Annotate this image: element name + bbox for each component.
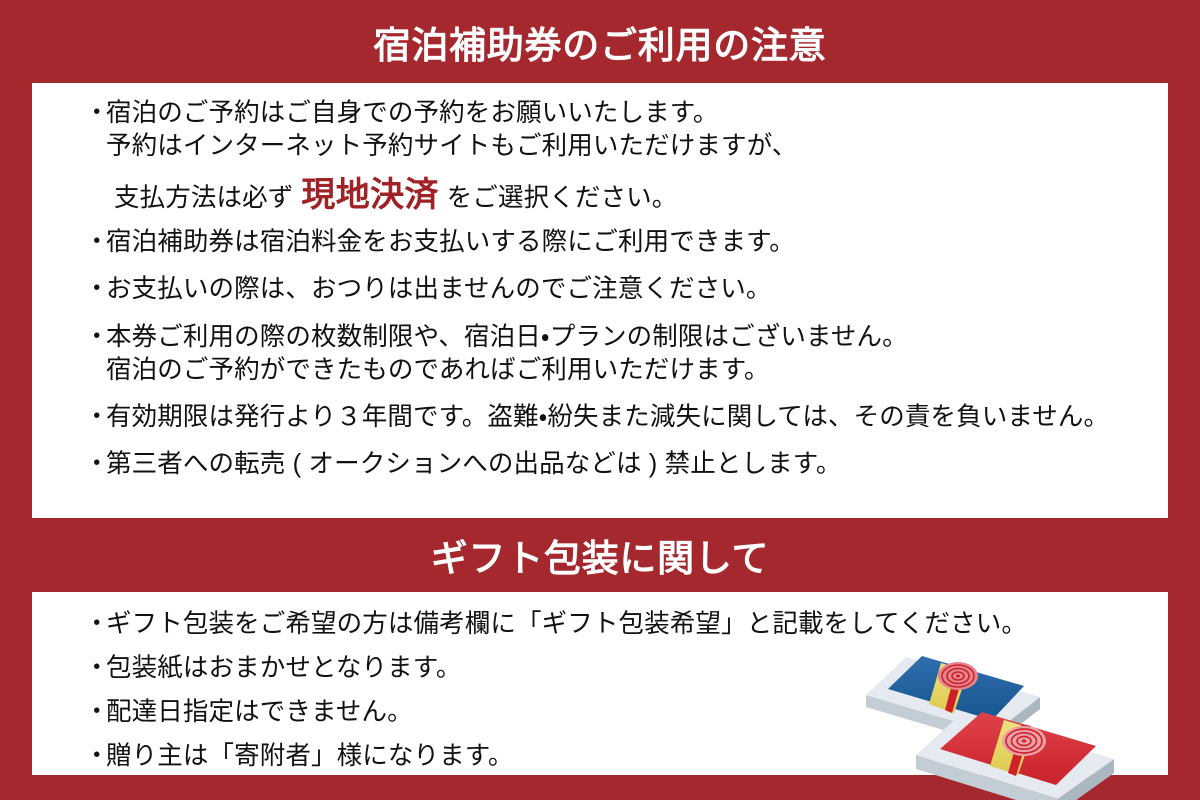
note-line: 予約はインターネット予約サイトもご利用いただけますが、 bbox=[84, 130, 1138, 163]
bullet-mark: ・ bbox=[84, 608, 106, 641]
note-text-pre: 支払方法は必ず bbox=[114, 182, 293, 215]
note-item: ・包装紙はおまかせとなります。 bbox=[84, 652, 1138, 685]
bullet-mark: ・ bbox=[84, 321, 106, 354]
note-item: ・配達日指定はできません。 bbox=[84, 696, 1138, 729]
bullet-mark: ・ bbox=[84, 652, 106, 685]
emphasis-text-genchi-kessai: 現地決済 bbox=[301, 167, 438, 216]
note-text: お支払いの際は、おつりは出ませんのでご注意ください。 bbox=[106, 275, 772, 303]
note-item: ・本券ご利用の際の枚数制限や、宿泊日・プランの制限はございません。 宿泊のご予約… bbox=[84, 321, 1138, 387]
note-item: ・宿泊のご予約はご自身での予約をお願いいたします。 予約はインターネット予約サイ… bbox=[84, 97, 1138, 216]
note-text: ギフト包装をご希望の方は備考欄に「ギフト包装希望」と記載をしてください。 bbox=[106, 610, 1027, 638]
note-text: 宿泊補助券は宿泊料金をお支払いする際にご利用できます。 bbox=[106, 228, 795, 256]
note-line: ・包装紙はおまかせとなります。 bbox=[84, 652, 1138, 685]
note-line: ・宿泊のご予約はご自身での予約をお願いいたします。 bbox=[84, 97, 1138, 130]
note-line: ・ギフト包装をご希望の方は備考欄に「ギフト包装希望」と記載をしてください。 bbox=[84, 608, 1138, 641]
bullet-mark: ・ bbox=[84, 401, 106, 434]
flyer-page: 宿泊補助券のご利用の注意 ・宿泊のご予約はご自身での予約をお願いいたします。 予… bbox=[0, 0, 1200, 800]
note-emphasis-line: 支払方法は必ず 現地決済 をご選択ください。 bbox=[84, 167, 1138, 216]
note-line: ・お支払いの際は、おつりは出ませんのでご注意ください。 bbox=[84, 273, 1138, 306]
section-1-panel: ・宿泊のご予約はご自身での予約をお願いいたします。 予約はインターネット予約サイ… bbox=[32, 83, 1168, 518]
note-line: ・宿泊補助券は宿泊料金をお支払いする際にご利用できます。 bbox=[84, 226, 1138, 259]
section-1-header-band: 宿泊補助券のご利用の注意 bbox=[0, 0, 1200, 83]
note-line: 宿泊のご予約ができたものであればご利用いただけます。 bbox=[84, 354, 1138, 387]
note-text: 宿泊のご予約はご自身での予約をお願いいたします。 bbox=[106, 99, 719, 127]
note-text: 配達日指定はできません。 bbox=[106, 698, 413, 726]
note-item: ・贈り主は「寄附者」様になります。 bbox=[84, 740, 1138, 773]
note-text: 第三者への転売 ( オークションへの出品などは ) 禁止とします。 bbox=[106, 450, 841, 478]
note-line: ・配達日指定はできません。 bbox=[84, 696, 1138, 729]
note-line: ・第三者への転売 ( オークションへの出品などは ) 禁止とします。 bbox=[84, 448, 1138, 481]
bullet-mark: ・ bbox=[84, 740, 106, 773]
note-line: ・有効期限は発行より３年間です。盗難・紛失また減失に関しては、その責を負いません… bbox=[84, 401, 1138, 434]
note-text: 包装紙はおまかせとなります。 bbox=[106, 654, 461, 682]
section-2-header-band: ギフト包装に関して bbox=[0, 518, 1200, 592]
note-text: 贈り主は「寄附者」様になります。 bbox=[106, 742, 514, 770]
section-2-title: ギフト包装に関して bbox=[431, 528, 770, 582]
note-text: 宿泊のご予約ができたものであればご利用いただけます。 bbox=[106, 356, 770, 384]
note-text-post: をご選択ください。 bbox=[447, 182, 678, 215]
note-item: ・第三者への転売 ( オークションへの出品などは ) 禁止とします。 bbox=[84, 448, 1138, 481]
bullet-mark: ・ bbox=[84, 448, 106, 481]
note-text: 予約はインターネット予約サイトもご利用いただけますが、 bbox=[106, 132, 797, 160]
bullet-mark: ・ bbox=[84, 97, 106, 130]
note-line: ・本券ご利用の際の枚数制限や、宿泊日・プランの制限はございません。 bbox=[84, 321, 1138, 354]
bullet-mark: ・ bbox=[84, 273, 106, 306]
note-item: ・宿泊補助券は宿泊料金をお支払いする際にご利用できます。 bbox=[84, 226, 1138, 259]
note-item: ・お支払いの際は、おつりは出ませんのでご注意ください。 bbox=[84, 273, 1138, 306]
section-2-panel: ・ギフト包装をご希望の方は備考欄に「ギフト包装希望」と記載をしてください。 ・包… bbox=[32, 592, 1168, 775]
bullet-mark: ・ bbox=[84, 696, 106, 729]
section-1-title: 宿泊補助券のご利用の注意 bbox=[374, 15, 827, 69]
note-line: ・贈り主は「寄附者」様になります。 bbox=[84, 740, 1138, 773]
note-item: ・有効期限は発行より３年間です。盗難・紛失また減失に関しては、その責を負いません… bbox=[84, 401, 1138, 434]
note-text: 有効期限は発行より３年間です。盗難・紛失また減失に関しては、その責を負いません。 bbox=[106, 403, 1109, 431]
bullet-mark: ・ bbox=[84, 226, 106, 259]
note-text: 本券ご利用の際の枚数制限や、宿泊日・プランの制限はございません。 bbox=[106, 323, 908, 351]
note-item: ・ギフト包装をご希望の方は備考欄に「ギフト包装希望」と記載をしてください。 bbox=[84, 608, 1138, 641]
